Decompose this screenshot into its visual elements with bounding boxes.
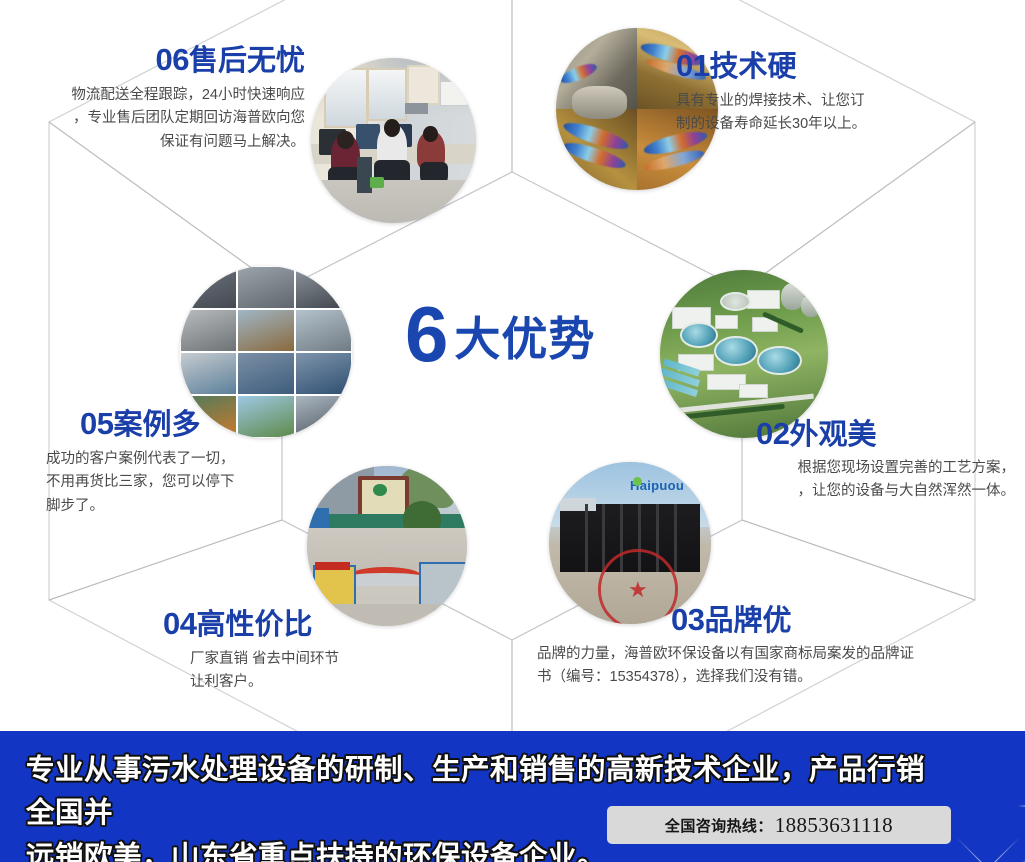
advantage-02-desc: 根据您现场设置完善的工艺方案， ，让您的设备与大自然浑然一体。 <box>640 457 1015 504</box>
advantage-05-title: 05案例多 <box>46 408 336 440</box>
advantage-03-number: 03 <box>671 602 704 637</box>
advantage-06-title: 06售后无忧 <box>15 44 305 76</box>
center-label: 大优势 <box>454 313 595 365</box>
advantage-02: 02外观美 根据您现场设置完善的工艺方案， ，让您的设备与大自然浑然一体。 <box>640 418 1015 504</box>
advantage-04-desc: 厂家直销 省去中间环节 让利客户。 <box>163 648 463 695</box>
advantage-01-desc: 具有专业的焊接技术、让您订 制的设备寿命延长30年以上。 <box>676 90 1006 137</box>
advantage-04: 04高性价比 厂家直销 省去中间环节 让利客户。 <box>163 608 463 695</box>
advantage-02-title: 02外观美 <box>640 418 1015 450</box>
sparkle-large <box>953 789 1025 862</box>
advantage-06: 06售后无忧 物流配送全程跟踪，24小时快速响应 ，专业售后团队定期回访海普欧向… <box>15 44 305 154</box>
advantage-01-title: 01技术硬 <box>676 50 1006 82</box>
advantage-01: 01技术硬 具有专业的焊接技术、让您订 制的设备寿命延长30年以上。 <box>676 50 1006 137</box>
hotline-label: 全国咨询热线： <box>665 815 773 836</box>
advantage-05-label: 案例多 <box>113 409 200 441</box>
advantage-03: 03品牌优 品牌的力量，海普欧环保设备以有国家商标局案发的品牌证 书（编号：15… <box>537 604 1017 690</box>
advantage-04-label: 高性价比 <box>196 609 312 641</box>
advantage-01-number: 01 <box>676 48 709 83</box>
center-headline: 6大优势 <box>405 295 595 373</box>
advantage-03-label: 品牌优 <box>704 605 791 637</box>
advantage-06-desc: 物流配送全程跟踪，24小时快速响应 ，专业售后团队定期回访海普欧向您 保证有问题… <box>15 84 305 154</box>
advantage-02-number: 02 <box>756 416 789 451</box>
advantage-05: 05案例多 成功的客户案例代表了一切， 不用再货比三家，您可以停下 脚步了。 <box>46 408 336 518</box>
sparkle-small <box>1013 779 1025 833</box>
advantage-06-number: 06 <box>156 42 189 77</box>
advantage-05-desc: 成功的客户案例代表了一切， 不用再货比三家，您可以停下 脚步了。 <box>46 448 336 518</box>
advantage-04-number: 04 <box>163 606 196 641</box>
advantage-06-label: 售后无忧 <box>189 45 305 77</box>
advantage-01-label: 技术硬 <box>709 51 796 83</box>
photo-02-wastewater-plant-aerial <box>660 270 828 438</box>
advantage-04-title: 04高性价比 <box>163 608 463 640</box>
advantage-03-title: 03品牌优 <box>537 604 1017 636</box>
hotline-number: 18853631118 <box>775 813 893 838</box>
hotline-box[interactable]: 全国咨询热线：18853631118 <box>607 806 951 844</box>
center-number: 6 <box>405 290 448 378</box>
infographic-canvas: Haipuou ★ 06售后无忧 物流配送全程跟踪，24小时快速响应 ，专业售后… <box>0 0 1025 862</box>
sparkle-medium <box>1002 844 1025 862</box>
advantage-03-desc: 品牌的力量，海普欧环保设备以有国家商标局案发的品牌证 书（编号：15354378… <box>537 643 1017 690</box>
photo-06-office-staff <box>311 58 476 223</box>
advantage-05-number: 05 <box>80 406 113 441</box>
advantage-02-label: 外观美 <box>789 419 876 451</box>
